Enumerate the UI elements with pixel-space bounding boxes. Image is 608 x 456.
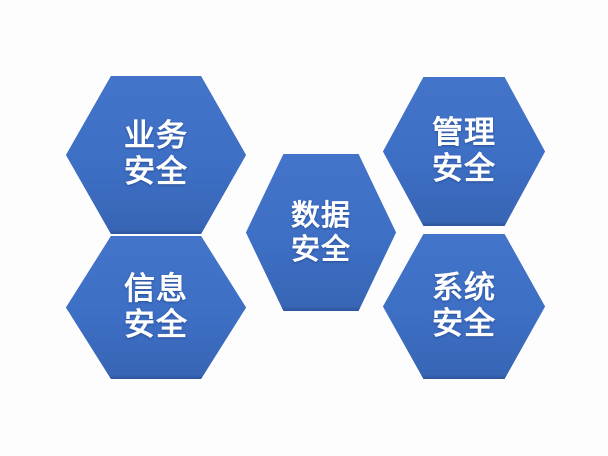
hexagon-information-security[interactable]: 信息 安全 bbox=[66, 236, 246, 379]
hexagon-label-line-1: 管理 bbox=[432, 116, 496, 152]
hexagon-label-line-2: 安全 bbox=[432, 152, 496, 188]
diagram-canvas: 业务 安全 信息 安全 数据 安全 管理 安全 系统 安全 bbox=[0, 0, 608, 456]
hexagon-label-line-1: 数据 bbox=[291, 199, 351, 233]
hexagon-label-business-security: 业务 安全 bbox=[124, 119, 188, 191]
hexagon-data-security[interactable]: 数据 安全 bbox=[246, 154, 396, 311]
hexagon-label-line-1: 信息 bbox=[124, 272, 188, 308]
hexagon-label-line-2: 安全 bbox=[124, 155, 188, 191]
hexagon-label-line-2: 安全 bbox=[432, 307, 496, 343]
hexagon-business-security[interactable]: 业务 安全 bbox=[66, 76, 246, 234]
hexagon-label-data-security: 数据 安全 bbox=[291, 199, 351, 266]
hexagon-label-information-security: 信息 安全 bbox=[124, 272, 188, 344]
hexagon-label-line-1: 系统 bbox=[432, 271, 496, 307]
hexagon-label-line-2: 安全 bbox=[291, 233, 351, 267]
hexagon-label-system-security: 系统 安全 bbox=[432, 271, 496, 343]
hexagon-label-line-1: 业务 bbox=[124, 119, 188, 155]
hexagon-label-management-security: 管理 安全 bbox=[432, 116, 496, 188]
hexagon-label-line-2: 安全 bbox=[124, 308, 188, 344]
hexagon-management-security[interactable]: 管理 安全 bbox=[383, 77, 545, 226]
hexagon-system-security[interactable]: 系统 安全 bbox=[383, 234, 545, 379]
